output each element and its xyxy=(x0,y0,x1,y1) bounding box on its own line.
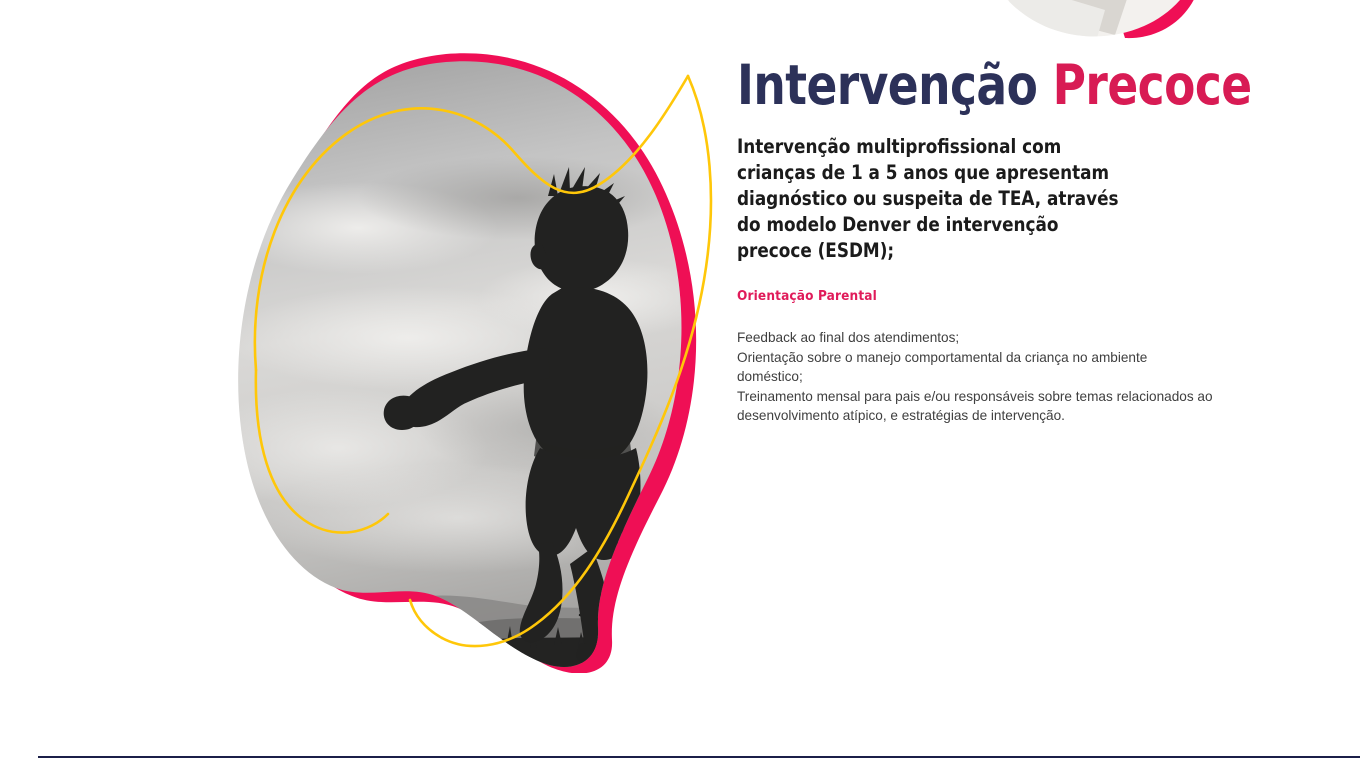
hero-photo-clip xyxy=(218,48,728,673)
title-main: Intervenção xyxy=(737,53,1037,117)
title-accent: Precoce xyxy=(1053,53,1252,117)
body-line: Treinamento mensal para pais e/ou respon… xyxy=(737,387,1222,407)
body-line: Feedback ao final dos atendimentos; xyxy=(737,328,1222,348)
body-line: doméstico; xyxy=(737,367,1222,387)
slide-canvas: Intervenção Precoce Intervenção multipro… xyxy=(0,0,1360,766)
body-paragraph: Feedback ao final dos atendimentos; Orie… xyxy=(737,305,1222,426)
top-photo-clip xyxy=(965,0,1215,50)
body-line: desenvolvimento atípico, e estratégias d… xyxy=(737,406,1222,426)
top-pink-blob xyxy=(1105,0,1203,38)
body-line: Orientação sobre o manejo comportamental… xyxy=(737,348,1222,368)
yellow-curve-tail xyxy=(410,600,442,638)
page-title: Intervenção Precoce xyxy=(737,56,1234,114)
subhead-orientacao-parental: Orientação Parental xyxy=(737,264,1277,305)
lede-paragraph: Intervenção multiprofissional com crianç… xyxy=(737,114,1121,264)
top-right-photo-decoration xyxy=(965,0,1215,50)
text-column: Intervenção Precoce Intervenção multipro… xyxy=(737,56,1277,426)
hero-illustration xyxy=(218,48,728,673)
footer-divider xyxy=(38,756,1360,758)
